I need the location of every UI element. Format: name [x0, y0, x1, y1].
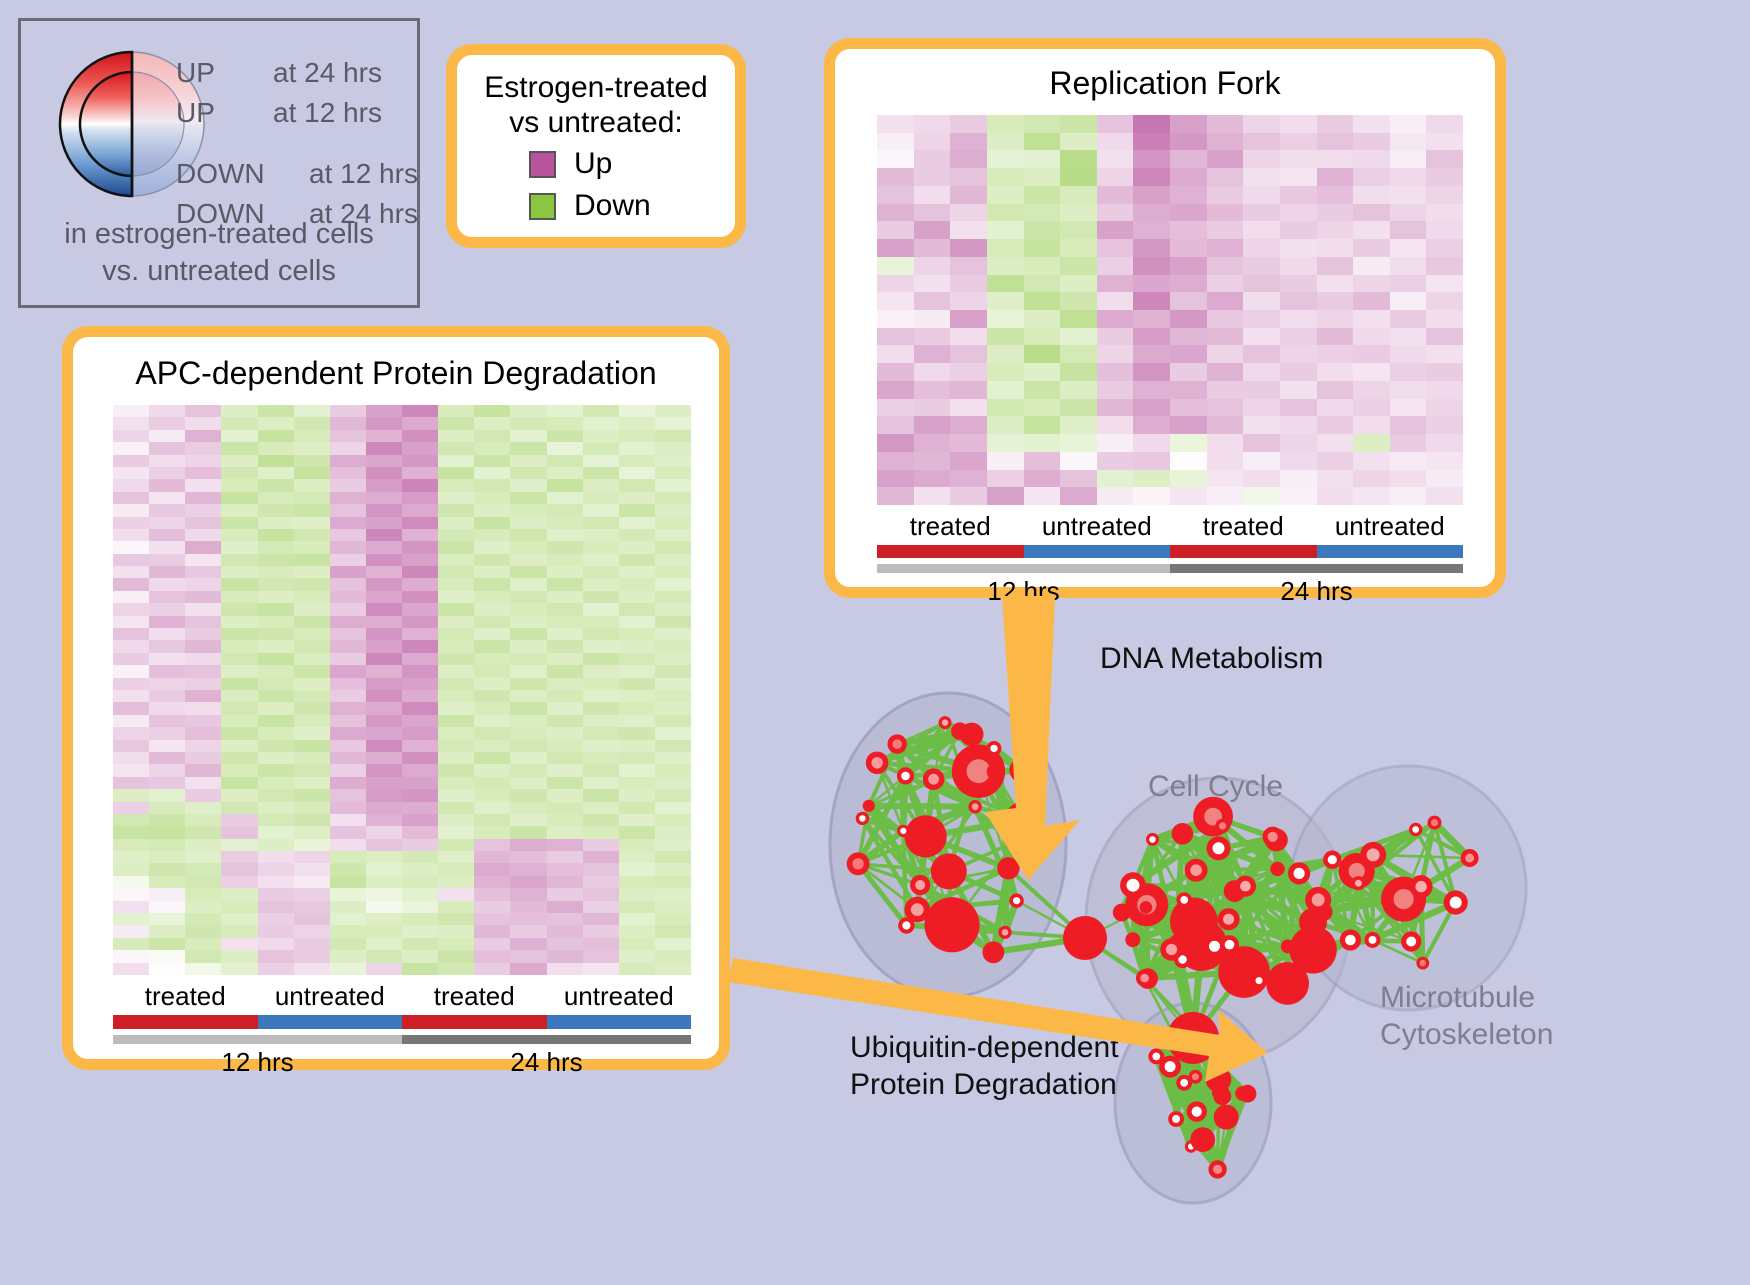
- treatment-label-3: untreated: [1317, 511, 1464, 542]
- circle-key-caption: in estrogen-treated cells vs. untreated …: [21, 216, 417, 290]
- network-node[interactable]: [951, 722, 969, 740]
- legend-title-line2: vs untreated:: [457, 106, 735, 141]
- cluster-label-dna-metabolism: DNA Metabolism: [1100, 642, 1323, 676]
- circle-key-caption-line1: in estrogen-treated cells: [21, 216, 417, 253]
- network-node[interactable]: [1214, 1105, 1239, 1130]
- network-node-core: [1180, 896, 1188, 904]
- network-node-core: [1213, 842, 1225, 854]
- apc-time-colorbar: [113, 1035, 691, 1044]
- circle-key-row-1-label: UP: [176, 97, 215, 129]
- network-node-core: [1015, 812, 1032, 829]
- network-node-core: [1223, 914, 1234, 925]
- network-node-core: [1190, 864, 1202, 876]
- time-bar-1: [1170, 564, 1463, 573]
- network-node[interactable]: [987, 763, 1004, 780]
- time-label-0: 12 hrs: [877, 576, 1170, 607]
- circle-key-row-0-time: at 24 hrs: [273, 57, 382, 89]
- rf-time-colorbar: [877, 564, 1463, 573]
- circle-key-row-0-label: UP: [176, 57, 215, 89]
- network-node[interactable]: [1270, 862, 1284, 876]
- network-node-core: [1240, 881, 1251, 892]
- network-node[interactable]: [1299, 908, 1327, 936]
- treatment-bar-2: [402, 1015, 547, 1029]
- down-color-swatch: [529, 193, 556, 220]
- network-node[interactable]: [863, 800, 875, 812]
- rf-time-labels: 12 hrs24 hrs: [877, 576, 1463, 607]
- treatment-bar-1: [258, 1015, 403, 1029]
- treatment-label-2: treated: [1170, 511, 1317, 542]
- color-legend-panel: Estrogen-treated vs untreated: Up Down: [446, 44, 746, 248]
- cluster-label-cell-cycle: Cell Cycle: [1148, 770, 1283, 804]
- network-node-core: [1355, 880, 1362, 887]
- replication-fork-title: Replication Fork: [835, 65, 1495, 102]
- treatment-label-2: treated: [402, 981, 547, 1012]
- network-node-core: [1431, 819, 1438, 826]
- network-node-core: [928, 774, 939, 785]
- network-node[interactable]: [1213, 1087, 1231, 1105]
- legend-title: Estrogen-treated vs untreated:: [457, 71, 735, 141]
- network-node-core: [1420, 960, 1426, 966]
- treatment-bar-2: [1170, 545, 1317, 558]
- network-node-core: [1002, 929, 1009, 936]
- network-node-core: [1367, 848, 1380, 861]
- treatment-bar-3: [547, 1015, 692, 1029]
- circle-key-row-2-time: at 12 hrs: [309, 158, 418, 190]
- network-node[interactable]: [1167, 1012, 1219, 1064]
- network-node-core: [1010, 837, 1020, 847]
- replication-fork-panel: Replication Fork treateduntreatedtreated…: [824, 38, 1506, 598]
- network-node-core: [902, 921, 910, 929]
- network-node-core: [1165, 1061, 1176, 1072]
- network-node-core: [1225, 940, 1235, 950]
- rf-treatment-labels: treateduntreatedtreateduntreated: [877, 511, 1463, 542]
- network-node-core: [1192, 1107, 1202, 1117]
- network-node-core: [901, 772, 910, 781]
- network-node-core: [859, 815, 866, 822]
- time-label-1: 24 hrs: [1170, 576, 1463, 607]
- legend-title-line1: Estrogen-treated: [457, 71, 735, 106]
- network-node[interactable]: [1239, 1085, 1257, 1103]
- network-node-core: [1465, 854, 1474, 863]
- network-svg: [800, 620, 1590, 1280]
- network-node-core: [990, 745, 997, 752]
- network-node-core: [1268, 832, 1278, 842]
- rf-treatment-colorbar: [877, 545, 1463, 558]
- treatment-label-0: treated: [113, 981, 258, 1012]
- network-node-core: [852, 858, 863, 869]
- network-node-core: [915, 880, 925, 890]
- network-node-core: [892, 739, 902, 749]
- treatment-label-1: untreated: [258, 981, 403, 1012]
- network-node-core: [1149, 836, 1156, 843]
- treatment-bar-0: [113, 1015, 258, 1029]
- circle-key-row-2-label: DOWN: [176, 158, 265, 190]
- circle-key-caption-line2: vs. untreated cells: [21, 253, 417, 290]
- network-node-core: [871, 757, 882, 768]
- network-node-core: [900, 828, 906, 834]
- time-bar-1: [402, 1035, 691, 1044]
- network-node[interactable]: [1190, 1127, 1215, 1152]
- network-node-core: [1209, 941, 1220, 952]
- network-node[interactable]: [1218, 946, 1270, 998]
- network-node-core: [1127, 879, 1140, 892]
- circle-key-row-1-time: at 12 hrs: [273, 97, 382, 129]
- network-node-core: [1180, 1079, 1188, 1087]
- up-color-swatch: [529, 151, 556, 178]
- network-node[interactable]: [1125, 932, 1140, 947]
- apc-treatment-labels: treateduntreatedtreateduntreated: [113, 981, 691, 1012]
- network-node-core: [1172, 1115, 1180, 1123]
- treatment-label-1: untreated: [1024, 511, 1171, 542]
- treatment-label-3: untreated: [547, 981, 692, 1012]
- network-node-core: [1166, 944, 1177, 955]
- cluster-label-ubiquitin-degradation: Ubiquitin-dependent Protein Degradation: [850, 1030, 1119, 1103]
- network-node-core: [1219, 822, 1226, 829]
- apc-degradation-heatmap: [113, 405, 691, 975]
- treatment-bar-0: [877, 545, 1024, 558]
- network-node-core: [1140, 974, 1149, 983]
- network-node-core: [1152, 1053, 1160, 1061]
- network-node[interactable]: [924, 897, 979, 952]
- apc-treatment-colorbar: [113, 1015, 691, 1029]
- legend-item-up-label: Up: [574, 147, 612, 181]
- network-node[interactable]: [905, 815, 947, 857]
- network-node[interactable]: [983, 941, 1005, 963]
- network-node-core: [1312, 893, 1325, 906]
- network-node-core: [1415, 881, 1426, 892]
- network-node[interactable]: [1172, 823, 1194, 845]
- network-node[interactable]: [1063, 916, 1107, 960]
- treatment-bar-3: [1317, 545, 1464, 558]
- network-node-core: [1013, 897, 1020, 904]
- network-node-core: [1394, 889, 1414, 909]
- apc-degradation-panel: APC-dependent Protein Degradation treate…: [62, 326, 730, 1070]
- time-bar-0: [113, 1035, 402, 1044]
- treatment-label-0: treated: [877, 511, 1024, 542]
- network-node-core: [1450, 897, 1462, 909]
- network-node-core: [1345, 935, 1356, 946]
- legend-item-down-label: Down: [574, 189, 651, 223]
- network-node[interactable]: [1009, 758, 1033, 782]
- apc-degradation-title: APC-dependent Protein Degradation: [73, 355, 719, 392]
- network-node-core: [1369, 936, 1377, 944]
- network-node-core: [1256, 977, 1263, 984]
- network-node[interactable]: [997, 857, 1019, 879]
- network-node-core: [1412, 826, 1419, 833]
- apc-time-labels: 12 hrs24 hrs: [113, 1047, 691, 1078]
- pathway-network-diagram: DNA Metabolism Cell Cycle Microtubule Cy…: [800, 620, 1590, 1280]
- network-node-core: [911, 903, 924, 916]
- replication-fork-heatmap: [877, 115, 1463, 505]
- treatment-bar-1: [1024, 545, 1171, 558]
- network-node-core: [972, 803, 979, 810]
- time-label-0: 12 hrs: [113, 1047, 402, 1078]
- network-node[interactable]: [1140, 901, 1153, 914]
- time-bar-0: [877, 564, 1170, 573]
- network-node-core: [1192, 1073, 1199, 1080]
- network-node[interactable]: [1113, 904, 1131, 922]
- expression-circle-key: UP at 24 hrs UP at 12 hrs DOWN at 12 hrs…: [18, 18, 420, 308]
- legend-item-down: Down: [529, 189, 651, 223]
- network-node-core: [942, 719, 948, 725]
- network-node-core: [1328, 855, 1337, 864]
- network-node-core: [1406, 937, 1416, 947]
- network-node-core: [1294, 868, 1305, 879]
- network-node[interactable]: [1281, 940, 1295, 954]
- time-label-1: 24 hrs: [402, 1047, 691, 1078]
- network-node[interactable]: [931, 853, 967, 889]
- cluster-label-microtubule-cytoskeleton: Microtubule Cytoskeleton: [1380, 980, 1553, 1053]
- legend-item-up: Up: [529, 147, 612, 181]
- network-node-core: [1213, 1165, 1222, 1174]
